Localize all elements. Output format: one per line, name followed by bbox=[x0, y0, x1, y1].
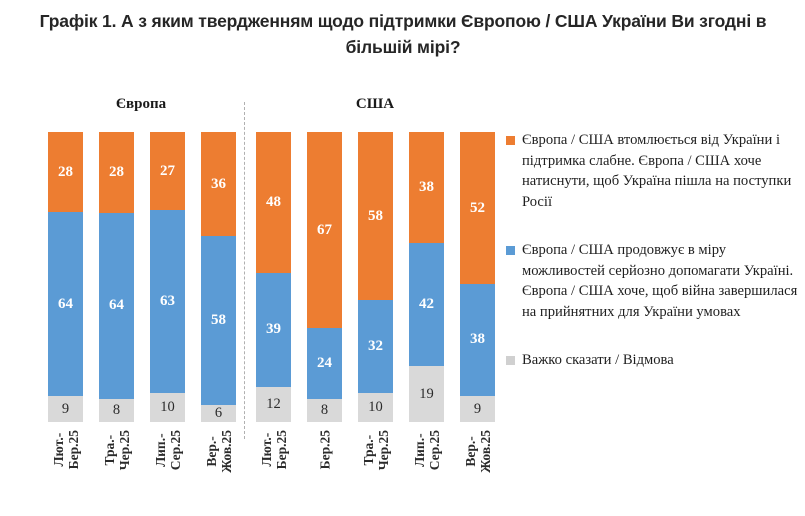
x-axis-label-line1: Лип.- bbox=[153, 433, 168, 467]
legend-item-grey[interactable]: Важко сказати / Відмова bbox=[505, 350, 801, 371]
x-axis-label-line2: Жов.25 bbox=[478, 430, 493, 473]
x-axis-label: Бер.25 bbox=[307, 428, 342, 516]
bar-segment-support: 58 bbox=[201, 236, 236, 404]
x-axis-label-line1: Лют.- bbox=[259, 433, 274, 467]
bar-value-label: 42 bbox=[419, 297, 434, 312]
x-axis-label-line1: Лип.- bbox=[412, 433, 427, 467]
bar-segment-tired: 38 bbox=[409, 132, 444, 243]
x-axis-label-line1: Бер.25 bbox=[317, 430, 332, 469]
x-axis-label-line1: Лют.- bbox=[51, 433, 66, 467]
legend-label-orange: Європа / США втомлюється від України і п… bbox=[522, 132, 791, 210]
group-header-europe: Європа bbox=[48, 96, 234, 113]
bar-value-label: 58 bbox=[211, 313, 226, 328]
bar-column[interactable]: 52389 bbox=[460, 132, 495, 422]
bar-value-label: 10 bbox=[160, 400, 175, 415]
bar-segment-tired: 58 bbox=[358, 132, 393, 300]
bar-segment-unsure: 9 bbox=[48, 396, 83, 422]
bar-segment-support: 63 bbox=[150, 210, 185, 393]
bar-value-label: 28 bbox=[109, 165, 124, 180]
bar-segment-tired: 28 bbox=[48, 132, 83, 212]
bar-value-label: 9 bbox=[62, 402, 69, 417]
bar-column[interactable]: 28649 bbox=[48, 132, 83, 422]
bar-segment-support: 32 bbox=[358, 300, 393, 393]
x-axis-label-line1: Тра.- bbox=[102, 435, 117, 466]
bar-segment-tired: 52 bbox=[460, 132, 495, 284]
bar-column[interactable]: 28648 bbox=[99, 132, 134, 422]
bar-column[interactable]: 67248 bbox=[307, 132, 342, 422]
grey-swatch-icon bbox=[506, 356, 515, 365]
group-divider bbox=[244, 102, 245, 439]
bar-value-label: 67 bbox=[317, 223, 332, 238]
bar-value-label: 52 bbox=[470, 201, 485, 216]
bar-value-label: 8 bbox=[321, 403, 328, 418]
bar-segment-support: 24 bbox=[307, 328, 342, 398]
bar-segment-unsure: 12 bbox=[256, 387, 291, 422]
bar-value-label: 36 bbox=[211, 177, 226, 192]
bar-segment-unsure: 10 bbox=[150, 393, 185, 422]
bar-column[interactable]: 36586 bbox=[201, 132, 236, 422]
bar-value-label: 64 bbox=[109, 298, 124, 313]
bar-value-label: 28 bbox=[58, 165, 73, 180]
page-title: Графік 1. А з яким твердженням щодо підт… bbox=[38, 8, 768, 60]
bar-value-label: 9 bbox=[474, 402, 481, 417]
legend-label-grey: Важко сказати / Відмова bbox=[522, 352, 674, 368]
bar-value-label: 10 bbox=[368, 400, 383, 415]
bar-segment-unsure: 8 bbox=[307, 399, 342, 422]
bar-segment-support: 38 bbox=[460, 284, 495, 395]
x-axis-label-line2: Бер.25 bbox=[274, 430, 289, 469]
x-axis-label: Тра.-Чер.25 bbox=[99, 428, 134, 516]
bar-value-label: 24 bbox=[317, 356, 332, 371]
bar-value-label: 19 bbox=[419, 387, 434, 402]
x-axis-label: Вер.-Жов.25 bbox=[460, 428, 495, 516]
bar-value-label: 39 bbox=[266, 322, 281, 337]
x-axis-label-line2: Жов.25 bbox=[219, 430, 234, 473]
bar-segment-tired: 27 bbox=[150, 132, 185, 210]
bar-value-label: 6 bbox=[215, 406, 222, 421]
chart-legend: Європа / США втомлюється від України і п… bbox=[505, 130, 801, 389]
x-axis-label-line1: Тра.- bbox=[361, 435, 376, 466]
bar-value-label: 38 bbox=[470, 332, 485, 347]
bar-segment-tired: 28 bbox=[99, 132, 134, 213]
x-axis-label-line2: Бер.25 bbox=[66, 430, 81, 469]
bar-column[interactable]: 384219 bbox=[409, 132, 444, 422]
x-axis-label-line1: Вер.- bbox=[463, 436, 478, 466]
x-axis-label-line2: Сер.25 bbox=[168, 430, 183, 470]
bar-value-label: 63 bbox=[160, 294, 175, 309]
orange-swatch-icon bbox=[506, 136, 515, 145]
bar-segment-unsure: 19 bbox=[409, 366, 444, 422]
x-axis-label: Вер.-Жов.25 bbox=[201, 428, 236, 516]
x-axis-label: Лип.-Сер.25 bbox=[409, 428, 444, 516]
bar-column[interactable]: 583210 bbox=[358, 132, 393, 422]
bar-segment-unsure: 8 bbox=[99, 399, 134, 422]
bar-segment-support: 42 bbox=[409, 243, 444, 366]
blue-swatch-icon bbox=[506, 246, 515, 255]
bar-segment-support: 39 bbox=[256, 273, 291, 387]
bar-value-label: 27 bbox=[160, 164, 175, 179]
x-axis-label-line2: Сер.25 bbox=[427, 430, 442, 470]
bar-segment-tired: 36 bbox=[201, 132, 236, 236]
bar-value-label: 38 bbox=[419, 180, 434, 195]
bar-value-label: 12 bbox=[266, 397, 281, 412]
x-axis-label-line2: Чер.25 bbox=[376, 430, 391, 470]
group-header-usa: США bbox=[256, 96, 494, 113]
x-axis-label: Тра.-Чер.25 bbox=[358, 428, 393, 516]
bar-segment-support: 64 bbox=[48, 212, 83, 396]
bar-segment-unsure: 6 bbox=[201, 405, 236, 422]
bar-value-label: 48 bbox=[266, 195, 281, 210]
bar-segment-tired: 48 bbox=[256, 132, 291, 273]
legend-item-blue[interactable]: Європа / США продовжує в міру можливосте… bbox=[505, 240, 801, 322]
x-axis-label: Лют.-Бер.25 bbox=[256, 428, 291, 516]
x-axis-label-line2: Чер.25 bbox=[117, 430, 132, 470]
bar-value-label: 64 bbox=[58, 297, 73, 312]
bar-segment-unsure: 10 bbox=[358, 393, 393, 422]
bar-column[interactable]: 483912 bbox=[256, 132, 291, 422]
bar-value-label: 32 bbox=[368, 339, 383, 354]
chart-plot-area: Європа США 28649286482763103658648391267… bbox=[0, 88, 500, 516]
bar-value-label: 58 bbox=[368, 209, 383, 224]
x-axis-label: Лип.-Сер.25 bbox=[150, 428, 185, 516]
x-axis-label: Лют.-Бер.25 bbox=[48, 428, 83, 516]
bar-segment-support: 64 bbox=[99, 213, 134, 399]
chart-page: Графік 1. А з яким твердженням щодо підт… bbox=[0, 0, 805, 516]
bar-segment-tired: 67 bbox=[307, 132, 342, 328]
bar-column[interactable]: 276310 bbox=[150, 132, 185, 422]
bar-segment-unsure: 9 bbox=[460, 396, 495, 422]
bar-value-label: 8 bbox=[113, 403, 120, 418]
x-axis-label-line1: Вер.- bbox=[204, 436, 219, 466]
legend-label-blue: Європа / США продовжує в міру можливосте… bbox=[522, 242, 797, 320]
legend-item-orange[interactable]: Європа / США втомлюється від України і п… bbox=[505, 130, 801, 212]
